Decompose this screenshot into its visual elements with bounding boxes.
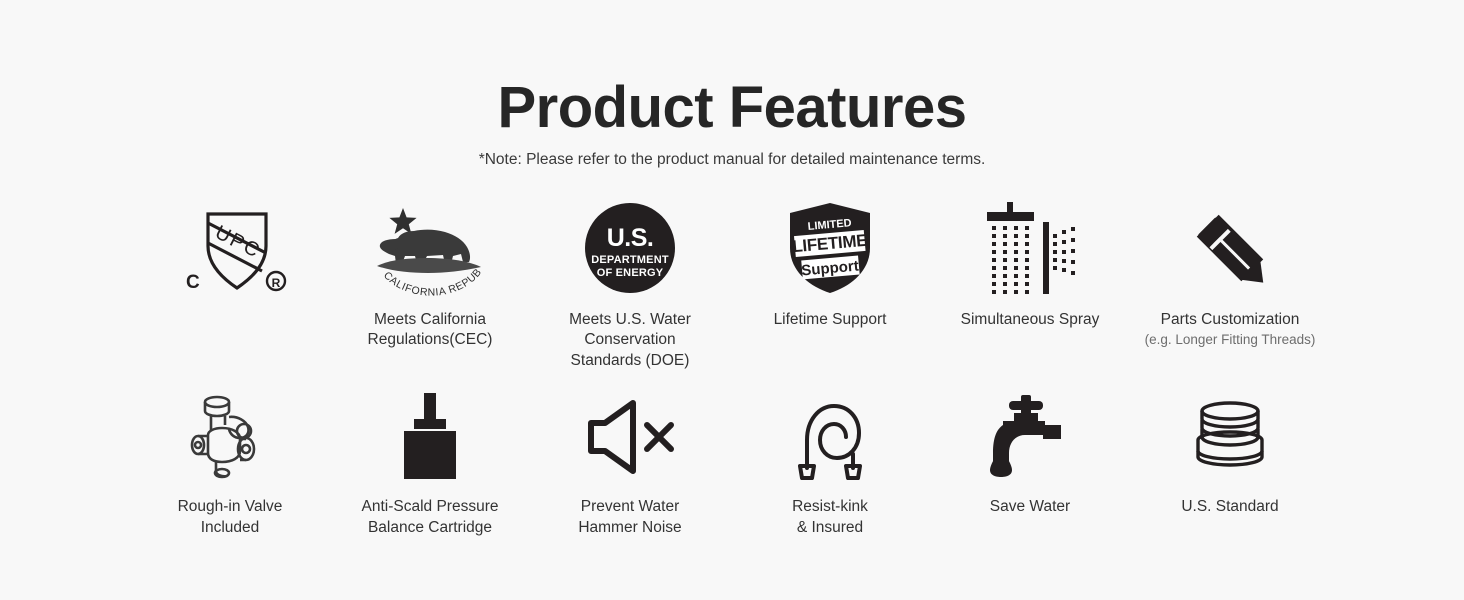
feature-caption: Prevent Water Hammer Noise (535, 497, 725, 538)
svg-text:DEPARTMENT: DEPARTMENT (591, 254, 669, 266)
feature-caption: Save Water (935, 497, 1125, 517)
svg-text:OF ENERGY: OF ENERGY (597, 267, 664, 279)
cupc-shield-icon: UPC C R (160, 196, 300, 300)
svg-text:C: C (186, 272, 200, 293)
feature-item-cupc: UPC C R (130, 196, 330, 371)
feature-item-lifetime-support: LIMITED LIFETIME Support Lifetime Suppor… (730, 196, 930, 371)
feature-caption: Meets California Regulations(CEC) (335, 310, 525, 351)
svg-text:R: R (272, 276, 281, 290)
feature-item-parts-customization: Parts Customization (e.g. Longer Fitting… (1130, 196, 1330, 371)
faucet-water-drop-icon (960, 389, 1100, 485)
features-grid: UPC C R (130, 196, 1330, 538)
feature-caption: Lifetime Support (735, 310, 925, 330)
feature-item-california: CALIFORNIA REPUBLIC Meets California Reg… (330, 196, 530, 371)
us-department-of-energy-seal-icon: U.S. DEPARTMENT OF ENERGY (560, 196, 700, 300)
product-features-page: Product Features *Note: Please refer to … (0, 0, 1464, 600)
feature-item-prevent-noise: Prevent Water Hammer Noise (530, 389, 730, 538)
header: Product Features *Note: Please refer to … (0, 78, 1464, 169)
page-note: *Note: Please refer to the product manua… (0, 151, 1464, 170)
pressure-balance-cartridge-icon (360, 389, 500, 485)
feature-caption: Resist-kink & Insured (735, 497, 925, 538)
coiled-hose-icon (760, 389, 900, 485)
feature-caption: Simultaneous Spray (935, 310, 1125, 330)
feature-item-doe: U.S. DEPARTMENT OF ENERGY Meets U.S. Wat… (530, 196, 730, 371)
feature-caption: Anti-Scald Pressure Balance Cartridge (335, 497, 525, 538)
feature-caption: Rough-in Valve Included (135, 497, 325, 538)
feature-caption: Meets U.S. Water Conservation Standards … (535, 310, 725, 371)
page-title: Product Features (0, 78, 1464, 139)
feature-item-us-standard: U.S. Standard (1130, 389, 1330, 538)
limited-lifetime-support-shield-icon: LIMITED LIFETIME Support (760, 196, 900, 300)
feature-item-simultaneous-spray: Simultaneous Spray (930, 196, 1130, 371)
feature-item-rough-in-valve: Rough-in Valve Included (130, 389, 330, 538)
feature-caption: Parts Customization (1135, 310, 1325, 330)
feature-subcaption: (e.g. Longer Fitting Threads) (1132, 331, 1328, 349)
svg-text:U.S.: U.S. (607, 224, 654, 252)
threaded-pipe-icon (1160, 389, 1300, 485)
feature-item-save-water: Save Water (930, 389, 1130, 538)
muted-speaker-icon (560, 389, 700, 485)
simultaneous-spray-shower-icon (960, 196, 1100, 300)
feature-item-resist-kink: Resist-kink & Insured (730, 389, 930, 538)
california-republic-bear-icon: CALIFORNIA REPUBLIC (360, 196, 500, 300)
feature-caption: U.S. Standard (1135, 497, 1325, 517)
rough-in-valve-icon (160, 389, 300, 485)
pencil-ruler-customization-icon (1160, 196, 1300, 300)
feature-item-cartridge: Anti-Scald Pressure Balance Cartridge (330, 389, 530, 538)
